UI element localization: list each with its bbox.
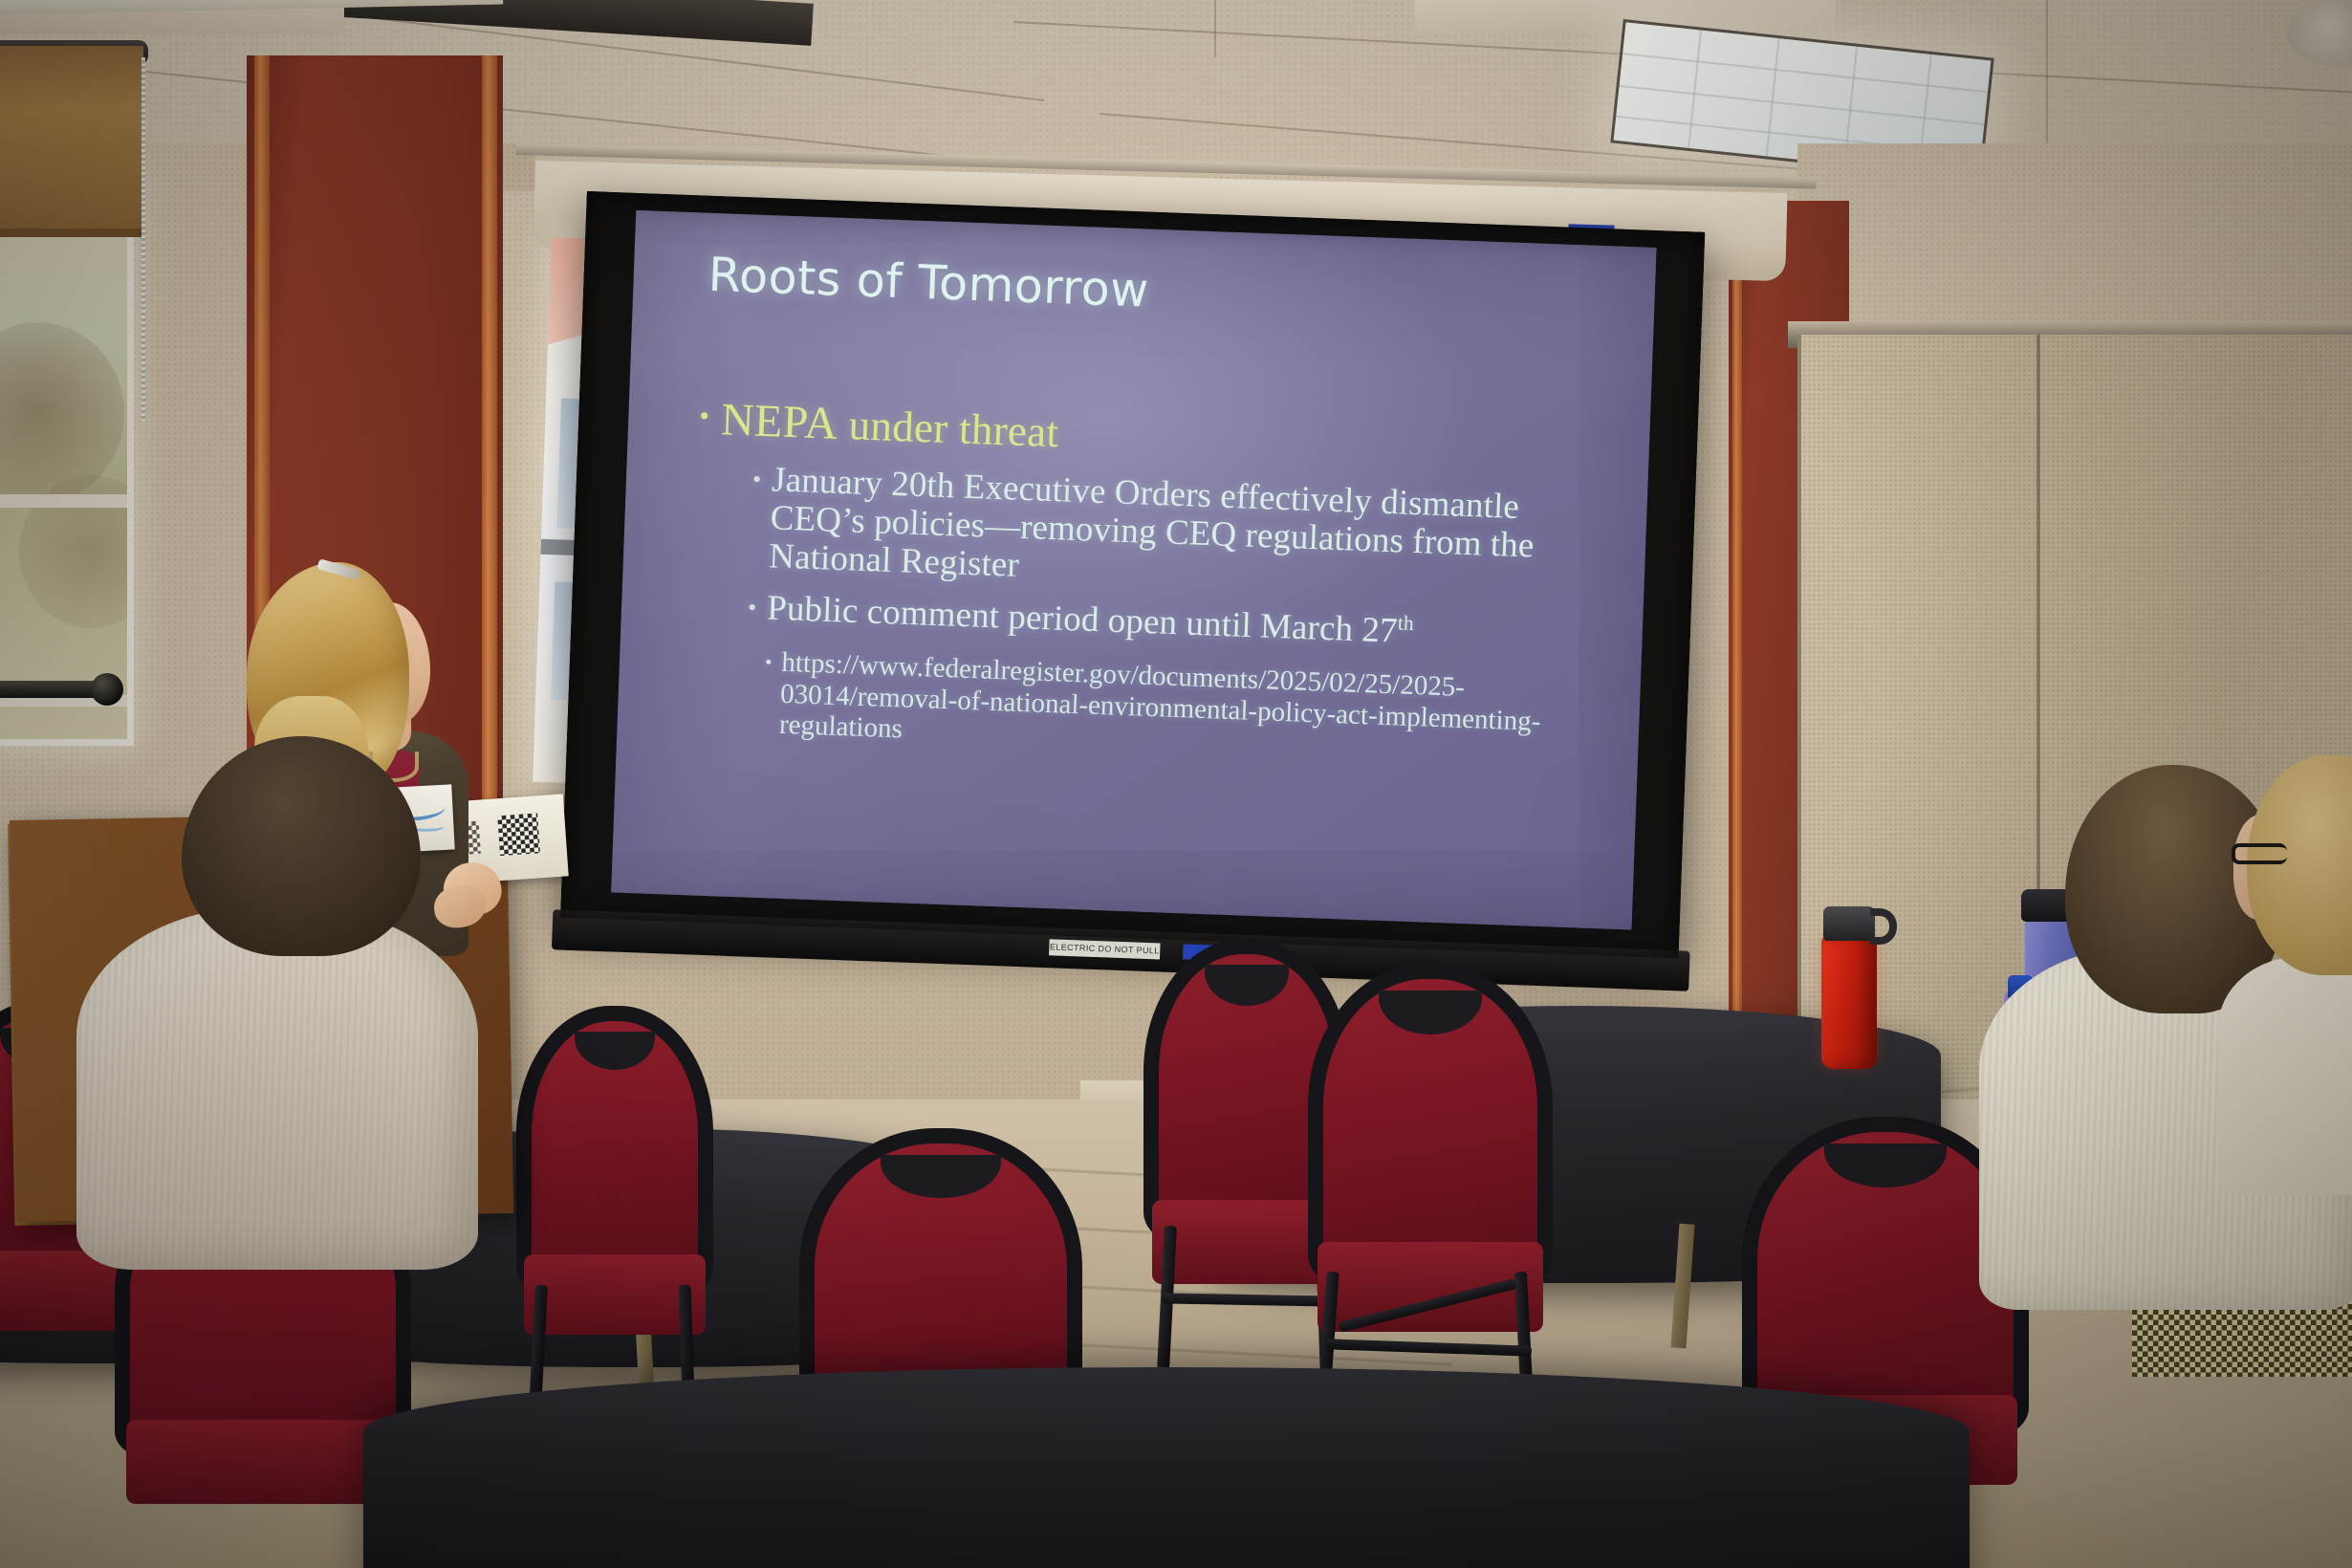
shade-pull-chain[interactable] — [142, 57, 145, 421]
red-bottle-cap[interactable] — [1823, 906, 1875, 941]
attendee-sweater — [76, 906, 478, 1270]
bullet-dot-icon: • — [747, 588, 757, 626]
conference-room-scene: Roots of Tomorrow • NEPA under threat • … — [0, 0, 2352, 1568]
attendee-far-right — [2228, 755, 2352, 1157]
attendee-hair — [182, 736, 421, 956]
window-left — [0, 172, 134, 746]
window-roller-shade[interactable] — [0, 46, 143, 237]
bullet-level1-strong: NEPA — [720, 394, 838, 448]
bullet-level2-text: January 20th Executive Orders effectivel… — [769, 461, 1578, 605]
bullet-level2-superscript: th — [1398, 611, 1415, 635]
glasses-icon — [2232, 843, 2287, 864]
bullet-level2-text-pre: Public comment period open until March 2… — [767, 588, 1399, 650]
bullet-dot-icon: • — [699, 392, 711, 440]
bullet-level1-rest: under threat — [837, 401, 1059, 456]
attendee-front-left — [76, 736, 488, 1252]
bullet-level3-url: • https://www.federalregister.gov/docume… — [762, 646, 1570, 769]
bullet-dot-icon: • — [751, 461, 762, 499]
attendee-top — [2218, 956, 2352, 1195]
banquet-chair[interactable] — [1308, 964, 1553, 1413]
microphone-icon — [91, 673, 123, 706]
bullet-level2-executive-orders: • January 20th Executive Orders effectiv… — [749, 461, 1577, 605]
ceiling-grid-line — [1214, 0, 1216, 57]
foreground-table — [363, 1367, 1970, 1568]
slide-title: Roots of Tomorrow — [708, 248, 1150, 318]
bullet-dot-icon: • — [764, 646, 773, 677]
projection-screen: Roots of Tomorrow • NEPA under threat • … — [560, 191, 1705, 958]
red-water-bottle[interactable] — [1821, 935, 1877, 1069]
attendee-hair — [2247, 755, 2352, 975]
qr-code-icon — [497, 813, 540, 856]
bullet-level3-text: https://www.federalregister.gov/document… — [778, 647, 1570, 770]
presentation-slide: Roots of Tomorrow • NEPA under threat • … — [611, 210, 1656, 930]
slide-bullet-list: • NEPA under threat • January 20th Execu… — [687, 392, 1579, 769]
banquet-chair[interactable] — [516, 1006, 713, 1407]
